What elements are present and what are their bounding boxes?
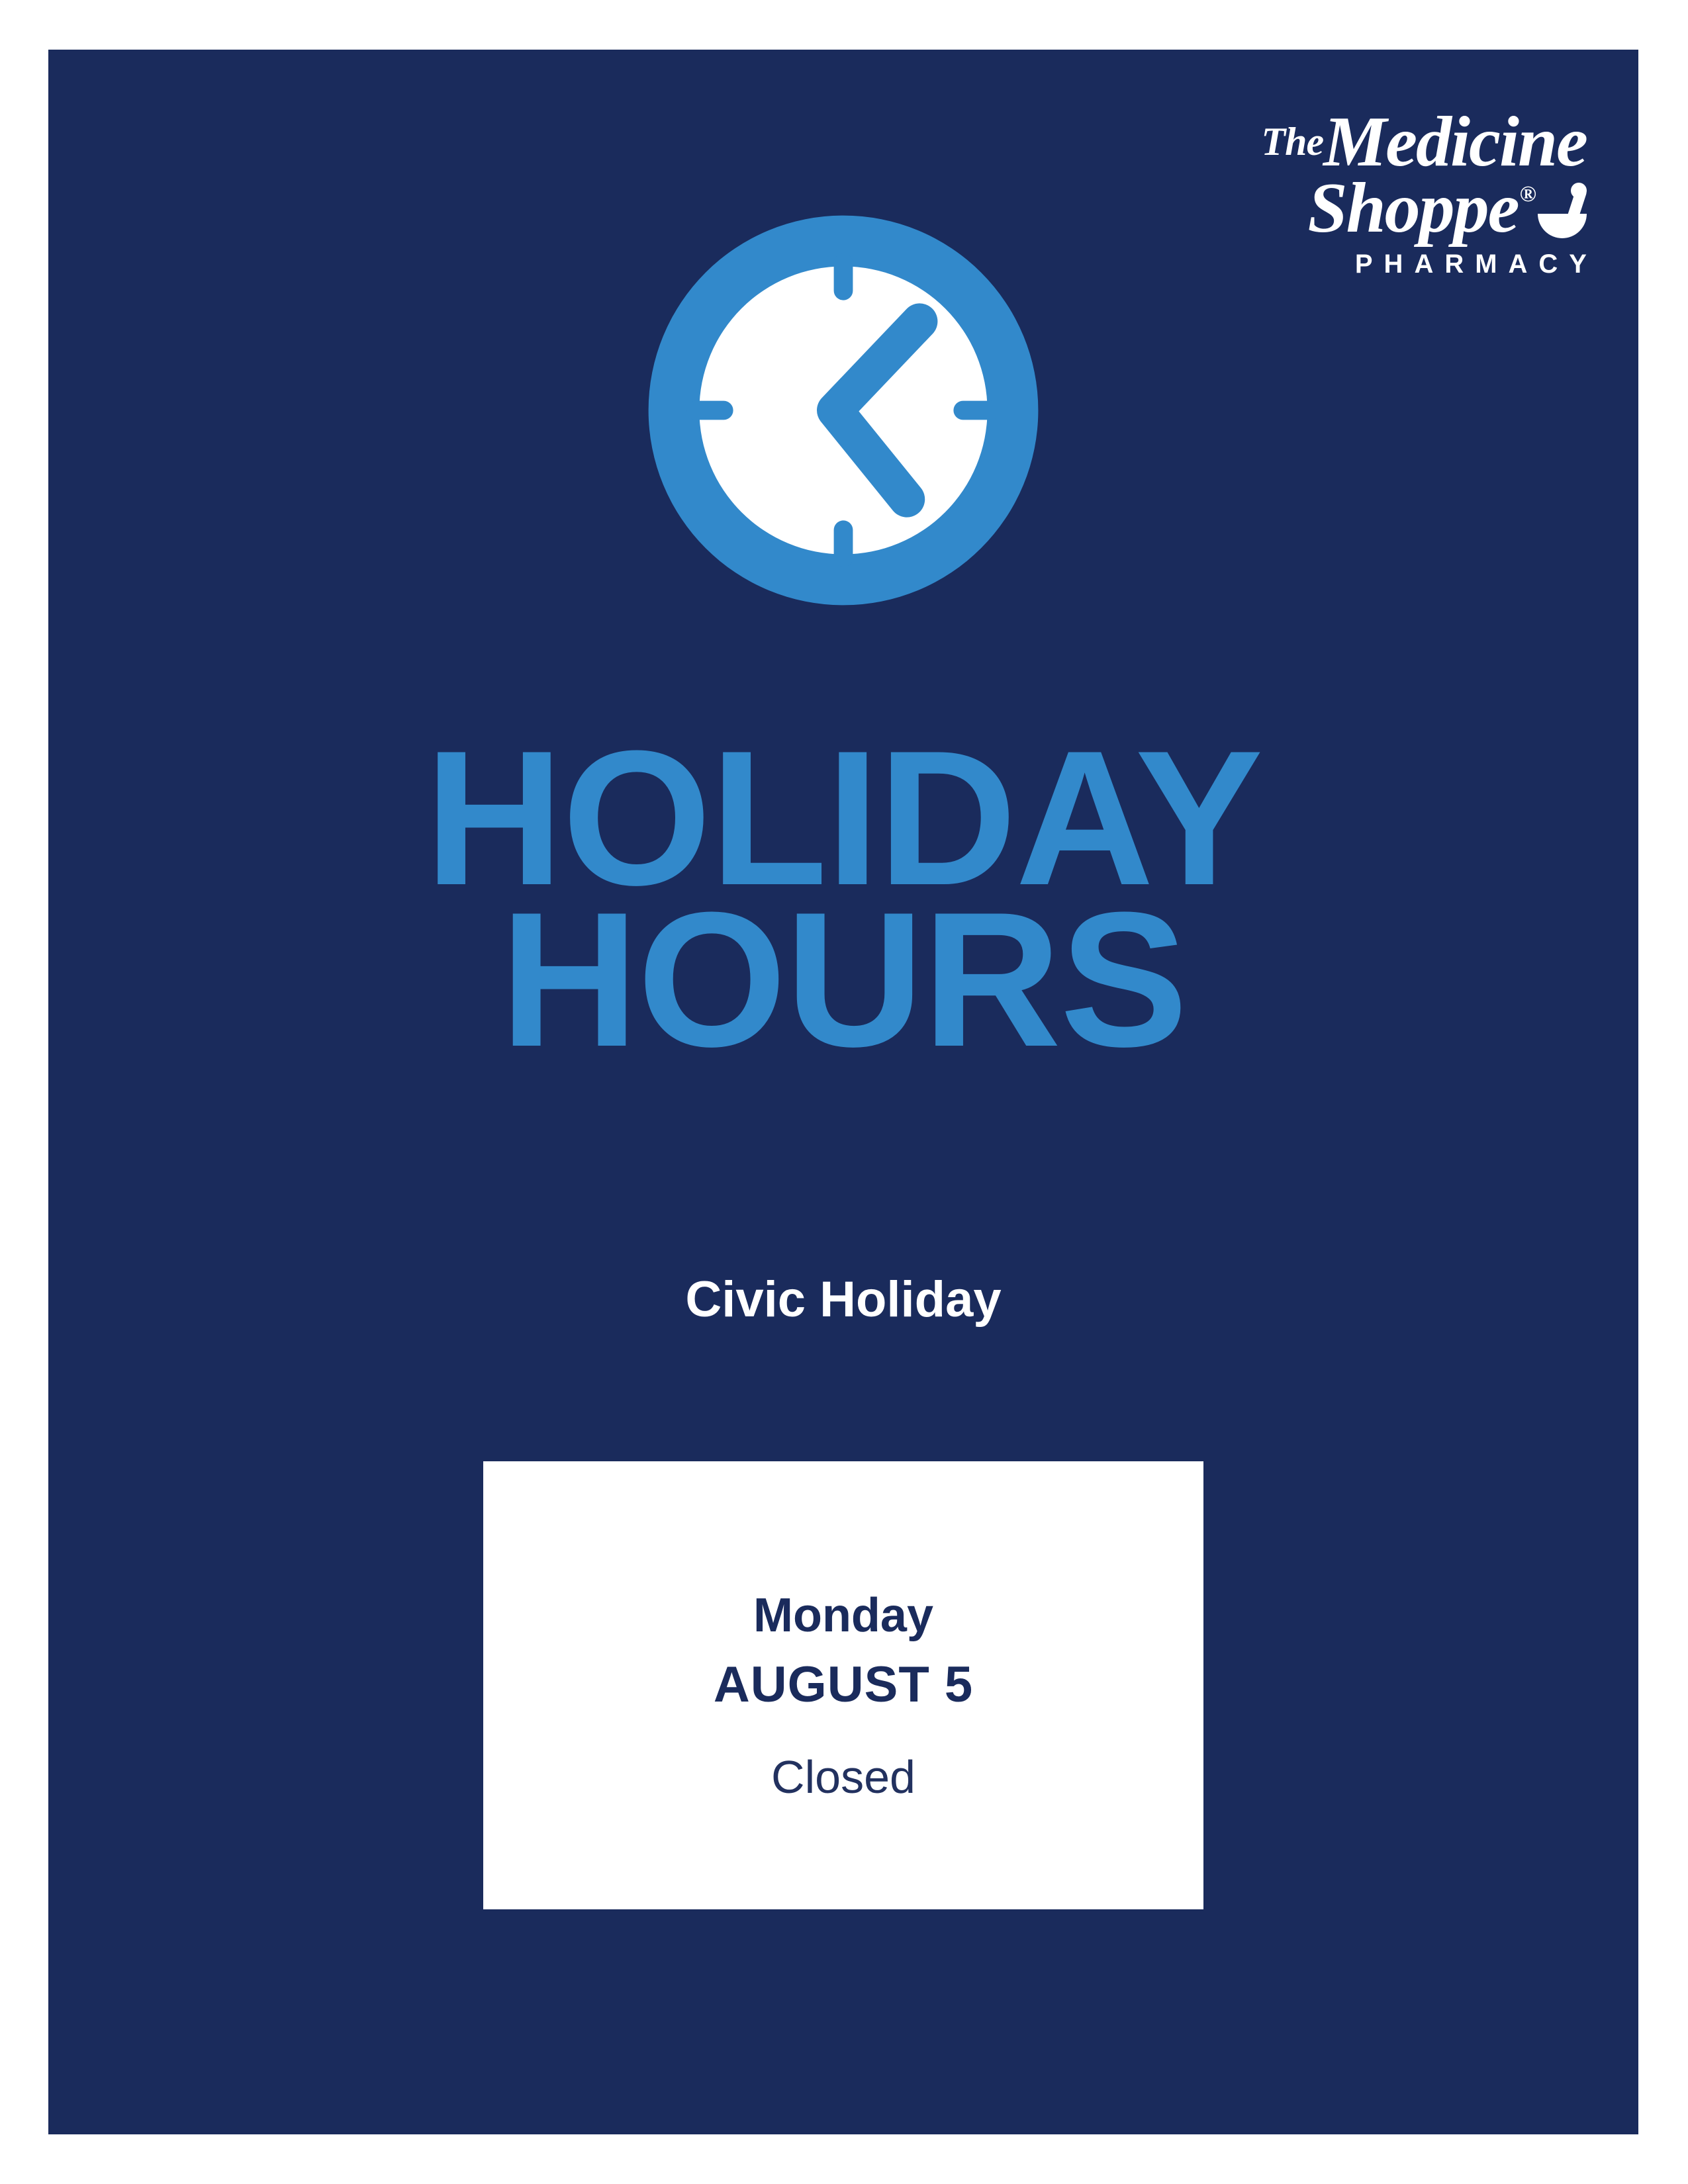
logo-line-medicine: TheMedicine — [1150, 109, 1587, 175]
card-day-label: Monday — [753, 1591, 933, 1641]
logo-the-word: The — [1261, 120, 1323, 163]
poster-panel: TheMedicine Shoppe® PHARMACY HOLIDAY HOU… — [48, 50, 1638, 2134]
card-status-label: Closed — [771, 1753, 915, 1802]
clock-icon-wrapper — [48, 199, 1638, 622]
headline-line-2: HOURS — [48, 899, 1638, 1061]
page-title: HOLIDAY HOURS — [48, 738, 1638, 1060]
card-date-label: AUGUST 5 — [714, 1659, 973, 1711]
clock-icon — [632, 199, 1055, 622]
holiday-name: Civic Holiday — [48, 1271, 1638, 1328]
hours-card: Monday AUGUST 5 Closed — [483, 1461, 1203, 1909]
